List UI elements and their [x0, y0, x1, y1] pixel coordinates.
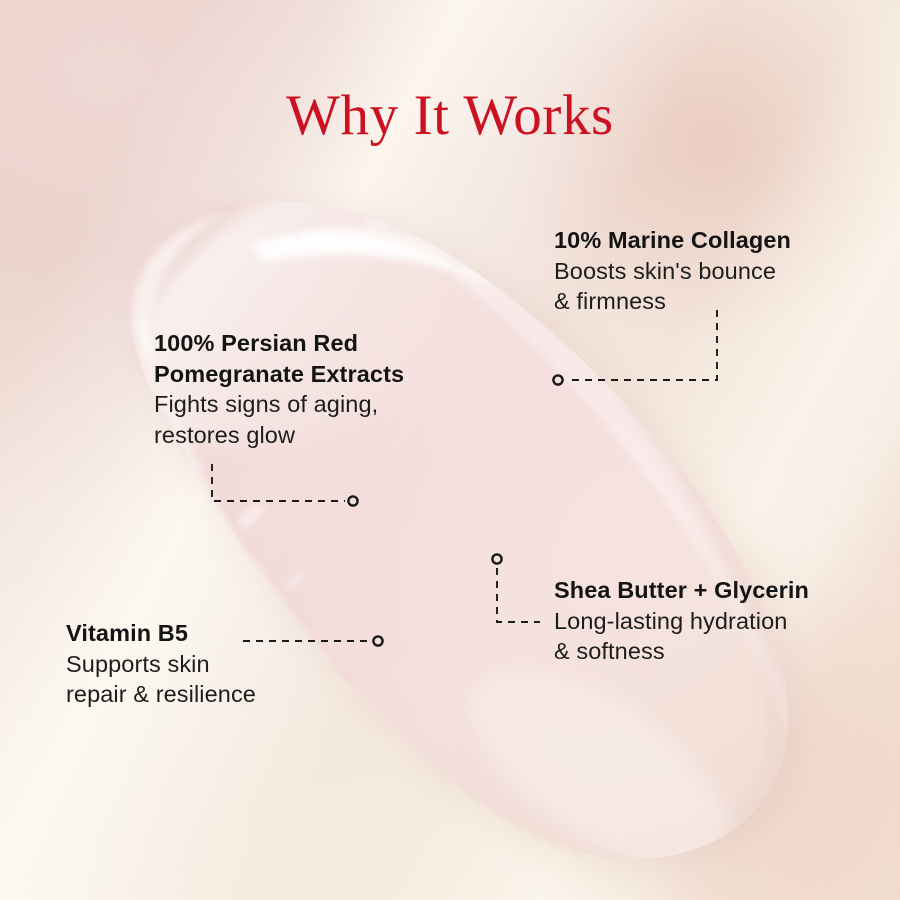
- annotation-marine-collagen-line-1: Boosts skin's bounce: [554, 256, 791, 287]
- annotation-marine-collagen: 10% Marine Collagen Boosts skin's bounce…: [554, 225, 791, 317]
- annotation-pomegranate-line-2: restores glow: [154, 420, 404, 451]
- product-infographic: Why It Works 10% Marine Collagen Boosts …: [0, 0, 900, 900]
- annotation-pomegranate-title-line-2: Pomegranate Extracts: [154, 359, 404, 390]
- annotation-marine-collagen-title: 10% Marine Collagen: [554, 225, 791, 256]
- vitamin-b5-connector-marker: [373, 636, 382, 645]
- annotation-shea-butter-line-2: & softness: [554, 636, 809, 667]
- shea-butter-connector-marker: [492, 554, 501, 563]
- annotation-vitamin-b5-line-2: repair & resilience: [66, 679, 256, 710]
- annotation-vitamin-b5-line-1: Supports skin: [66, 649, 256, 680]
- annotation-pomegranate-title-line-1: 100% Persian Red: [154, 328, 404, 359]
- marine-collagen-connector-line: [566, 310, 717, 380]
- annotation-vitamin-b5-title: Vitamin B5: [66, 618, 256, 649]
- annotation-shea-butter-line-1: Long-lasting hydration: [554, 606, 809, 637]
- annotation-shea-butter-title: Shea Butter + Glycerin: [554, 575, 809, 606]
- annotation-marine-collagen-line-2: & firmness: [554, 286, 791, 317]
- annotation-pomegranate-line-1: Fights signs of aging,: [154, 389, 404, 420]
- pomegranate-connector-marker: [348, 496, 357, 505]
- annotation-pomegranate: 100% Persian Red Pomegranate Extracts Fi…: [154, 328, 404, 450]
- connector-lines: [0, 0, 900, 900]
- shea-butter-connector-line: [497, 568, 540, 622]
- annotation-vitamin-b5: Vitamin B5 Supports skin repair & resili…: [66, 618, 256, 710]
- annotation-shea-butter: Shea Butter + Glycerin Long-lasting hydr…: [554, 575, 809, 667]
- marine-collagen-connector-marker: [553, 375, 562, 384]
- pomegranate-connector-line: [212, 464, 345, 501]
